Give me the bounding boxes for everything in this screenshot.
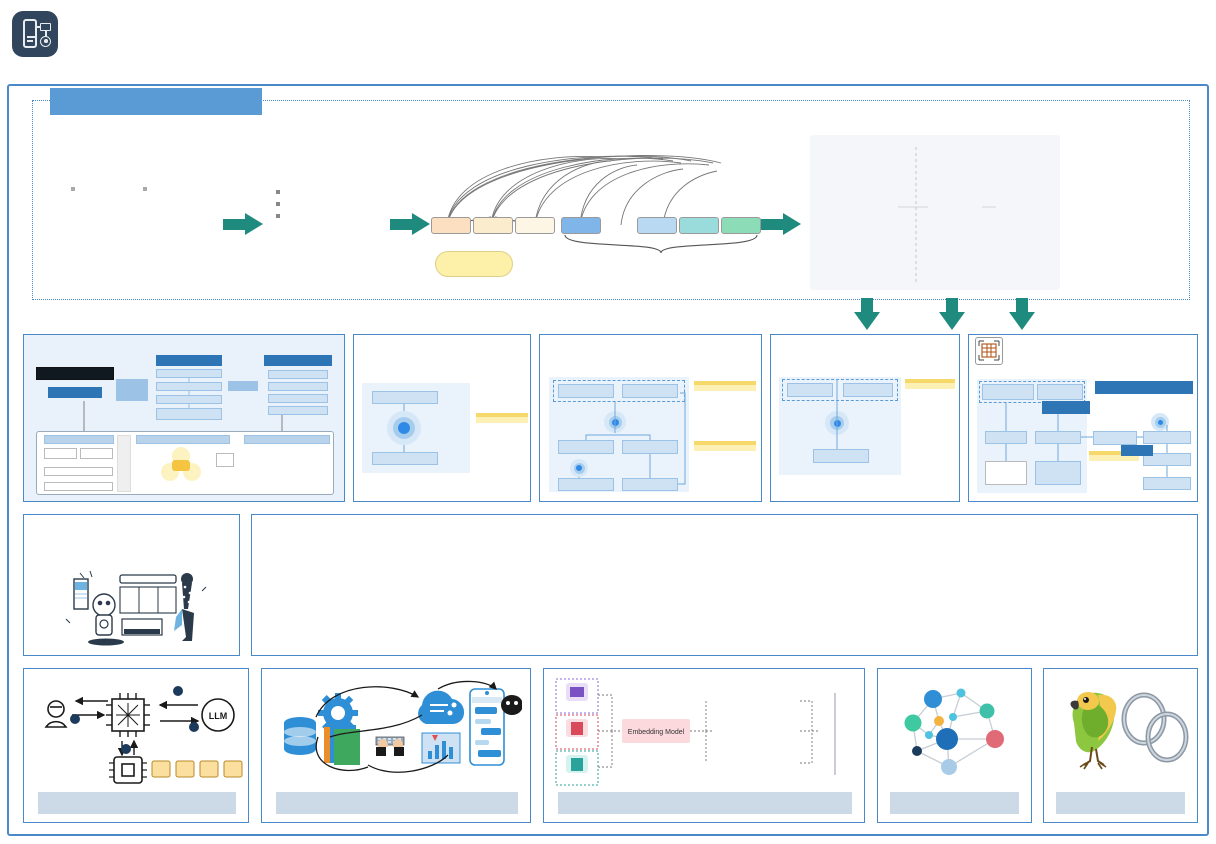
agents-row [23,514,1198,656]
enterprise-tagging-badge [50,88,262,115]
tech-card-rag[interactable]: LLM [23,668,249,823]
down-arrow-step4a [939,298,965,330]
step4-content-negative-2 [1143,397,1191,413]
step4-pending-lib-1 [985,461,1027,485]
voc-agent-card[interactable] [251,514,1198,656]
node-graph-illustration [891,677,1021,785]
step1-callout-0 [476,413,528,423]
step1-valid-data [372,452,438,465]
structural-embedding-grid-yellow [143,187,147,191]
step2-callout-0 [694,381,756,391]
ov-label-value [156,395,222,404]
step2-missed-tags [622,440,678,454]
database-gear-cloud-phone-illustration [272,675,522,785]
page-header [0,0,1216,78]
ov-sentiment-value [156,408,222,420]
panel-step4[interactable] [968,334,1198,502]
tech-cards-row: LLM [23,668,1198,823]
step4-exists [1035,431,1081,444]
knowledge-graph-caption [890,792,1019,814]
rag-caption [38,792,236,814]
content-generation-agent-card[interactable] [23,514,240,656]
flow-arrow-2 [390,213,430,235]
embedding-caption [558,792,852,814]
textual-tokens-brace [561,235,791,265]
embedding-flow-illustration: Embedding Model [550,675,860,787]
tech-card-embedding[interactable]: Embedding Model [543,668,865,823]
step2-ai-tag-filtering [622,478,678,491]
embedding-row-tail [276,214,289,218]
step1-ai-label [398,422,410,434]
step4-ai-node [1151,413,1169,431]
enterprise-tagging-body [33,129,1189,301]
step2-callout-0-body [694,385,756,391]
panel-step1[interactable] [353,334,531,502]
step4-content-negative [982,384,1034,400]
step3-tag-library [843,383,893,397]
step2-final-tags [558,478,614,491]
step4-related-tags [1037,384,1083,400]
ov-high-quality [44,448,77,459]
text-token-1 [561,217,601,234]
step2-ai-selection-node [604,411,626,433]
down-arrow-step3 [854,298,880,330]
ov-label-production [136,435,230,444]
flow-arrow-3 [761,213,801,235]
step4-overlay-table-icon [975,337,1003,365]
ov-data-statistics [244,435,330,444]
step4-adding-question [1121,445,1153,456]
ov-label-center [172,460,190,471]
ov-enterprise-related [80,448,113,459]
ov-label [156,382,222,391]
step4-tags-issue-attribution [1035,461,1081,485]
ov-model-training [44,435,114,444]
steps-row [23,334,1198,502]
robot-and-person-illustration [46,569,226,649]
flow-arrow-1 [223,213,263,235]
tagging-dashboard-mock [810,135,1060,290]
prefix-token-3 [515,217,555,234]
text-token-2 [637,217,677,234]
step4-common-question-library [1095,381,1193,394]
step4-question-library [1143,431,1191,444]
text-token-3 [679,217,719,234]
ov-statistics [228,381,258,391]
structural-embeddings-group [71,187,75,198]
step1-source-data [372,391,438,404]
step2-callout-1 [694,441,756,451]
step4-pending-question-library [1093,431,1137,445]
step2-source [558,384,614,398]
enterprise-tagging-section [32,100,1190,300]
step4-none [985,431,1027,444]
token-diagram [425,139,745,279]
rag-flow-illustration: LLM [34,679,244,789]
step2-ai-exclusion-node [570,459,588,477]
step3-ai-selection-node [825,411,849,435]
ai-agent-device-icon [12,11,58,57]
embedding-row-head [276,190,289,194]
structural-embedding-grid-yellow-group [143,187,147,191]
step3-callout-0 [905,379,955,389]
ov-data-output [264,355,332,366]
ov-report-data [268,370,328,379]
tech-card-langchain[interactable] [1043,668,1198,823]
parrot-and-chain-illustration [1052,679,1192,783]
ov-finetuning [44,482,113,491]
entity-relation-embeddings-group [276,190,289,226]
ov-finetune-dataset [44,467,113,476]
step3-callout-0-body [905,383,955,389]
ov-industry-model [117,435,131,492]
ov-hotspot-data [268,382,328,391]
ov-data-processing [116,379,148,401]
embedding-row-relation [276,202,289,206]
step4-matching-common [1042,401,1090,414]
ov-label-classification [156,369,222,378]
embedding-model-label-svg: Embedding Model [628,729,685,736]
step3-source [787,383,833,397]
ov-label-model [156,355,222,366]
adapter-node [435,251,513,277]
ov-semi-structured [36,367,114,380]
ov-sentiment-score [216,453,234,467]
ov-label-venn [160,447,202,489]
tech-card-knowledge-graph[interactable] [877,668,1032,823]
step3-hit-tags [813,449,869,463]
ov-voc-data [48,387,102,398]
ov-ranking-data [268,406,328,415]
text-token-4 [721,217,761,234]
panel-step3[interactable] [770,334,960,502]
ov-trend-data [268,394,328,403]
step2-tag-library [622,384,678,398]
tech-card-prompt-engineering[interactable] [261,668,531,823]
step4-frequent-qa [1143,477,1191,490]
step1-ai-node [387,411,421,445]
token-attention-arcs [425,139,745,229]
langchain-caption [1056,792,1185,814]
prompt-engineering-caption [276,792,518,814]
panel-step2[interactable] [539,334,762,502]
down-arrow-step4b [1009,298,1035,330]
panel-overview[interactable] [23,334,345,502]
prefix-token-1 [431,217,471,234]
step2-callout-1-body [694,445,756,451]
svg-text:LLM: LLM [209,711,228,721]
dashboard-connectors [810,135,1060,290]
structural-embedding-grid-blue [71,187,75,191]
prefix-token-2 [473,217,513,234]
step2-hit-tags [558,440,614,454]
diagram-board: LLM [7,84,1209,836]
step1-callout-0-body [476,417,528,423]
